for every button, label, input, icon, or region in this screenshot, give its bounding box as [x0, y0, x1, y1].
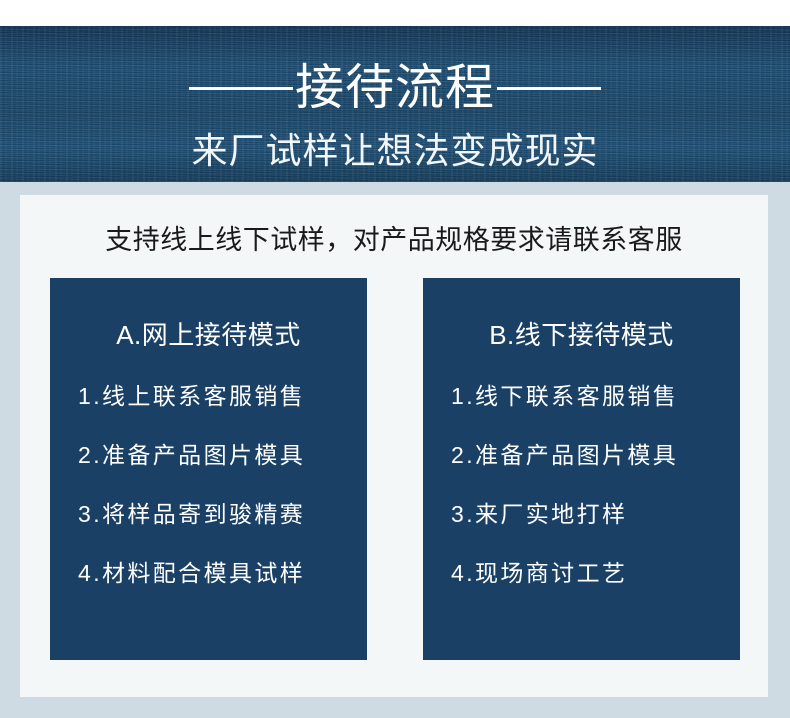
cards-container: A.网上接待模式 1.线上联系客服销售 2.准备产品图片模具 3.将样品寄到骏精… [50, 278, 740, 660]
page-root: 接待流程 来厂试样让想法变成现实 支持线上线下试样，对产品规格要求请联系客服 A… [0, 0, 790, 718]
list-item: 2.准备产品图片模具 [78, 444, 367, 467]
banner-title-row: 接待流程 [0, 54, 790, 122]
banner-title: 接待流程 [293, 64, 497, 113]
list-item: 3.将样品寄到骏精赛 [78, 503, 367, 526]
list-item: 1.线上联系客服销售 [78, 385, 367, 408]
card-step-list: 1.线下联系客服销售 2.准备产品图片模具 3.来厂实地打样 4.现场商讨工艺 [423, 385, 740, 585]
card-title: A.网上接待模式 [50, 322, 367, 348]
list-item: 4.材料配合模具试样 [78, 562, 367, 585]
card-step-list: 1.线上联系客服销售 2.准备产品图片模具 3.将样品寄到骏精赛 4.材料配合模… [50, 385, 367, 585]
online-reception-card: A.网上接待模式 1.线上联系客服销售 2.准备产品图片模具 3.将样品寄到骏精… [50, 278, 367, 660]
decorative-rule-left-icon [189, 87, 293, 90]
list-item: 1.线下联系客服销售 [451, 385, 740, 408]
header-banner: 接待流程 来厂试样让想法变成现实 [0, 26, 790, 182]
banner-subtitle: 来厂试样让想法变成现实 [0, 130, 790, 171]
list-item: 2.准备产品图片模具 [451, 444, 740, 467]
list-item: 3.来厂实地打样 [451, 503, 740, 526]
decorative-rule-right-icon [497, 87, 601, 90]
panel-heading: 支持线上线下试样，对产品规格要求请联系客服 [20, 224, 768, 256]
card-title: B.线下接待模式 [423, 322, 740, 348]
offline-reception-card: B.线下接待模式 1.线下联系客服销售 2.准备产品图片模具 3.来厂实地打样 … [423, 278, 740, 660]
list-item: 4.现场商讨工艺 [451, 562, 740, 585]
content-panel: 支持线上线下试样，对产品规格要求请联系客服 A.网上接待模式 1.线上联系客服销… [20, 195, 768, 697]
